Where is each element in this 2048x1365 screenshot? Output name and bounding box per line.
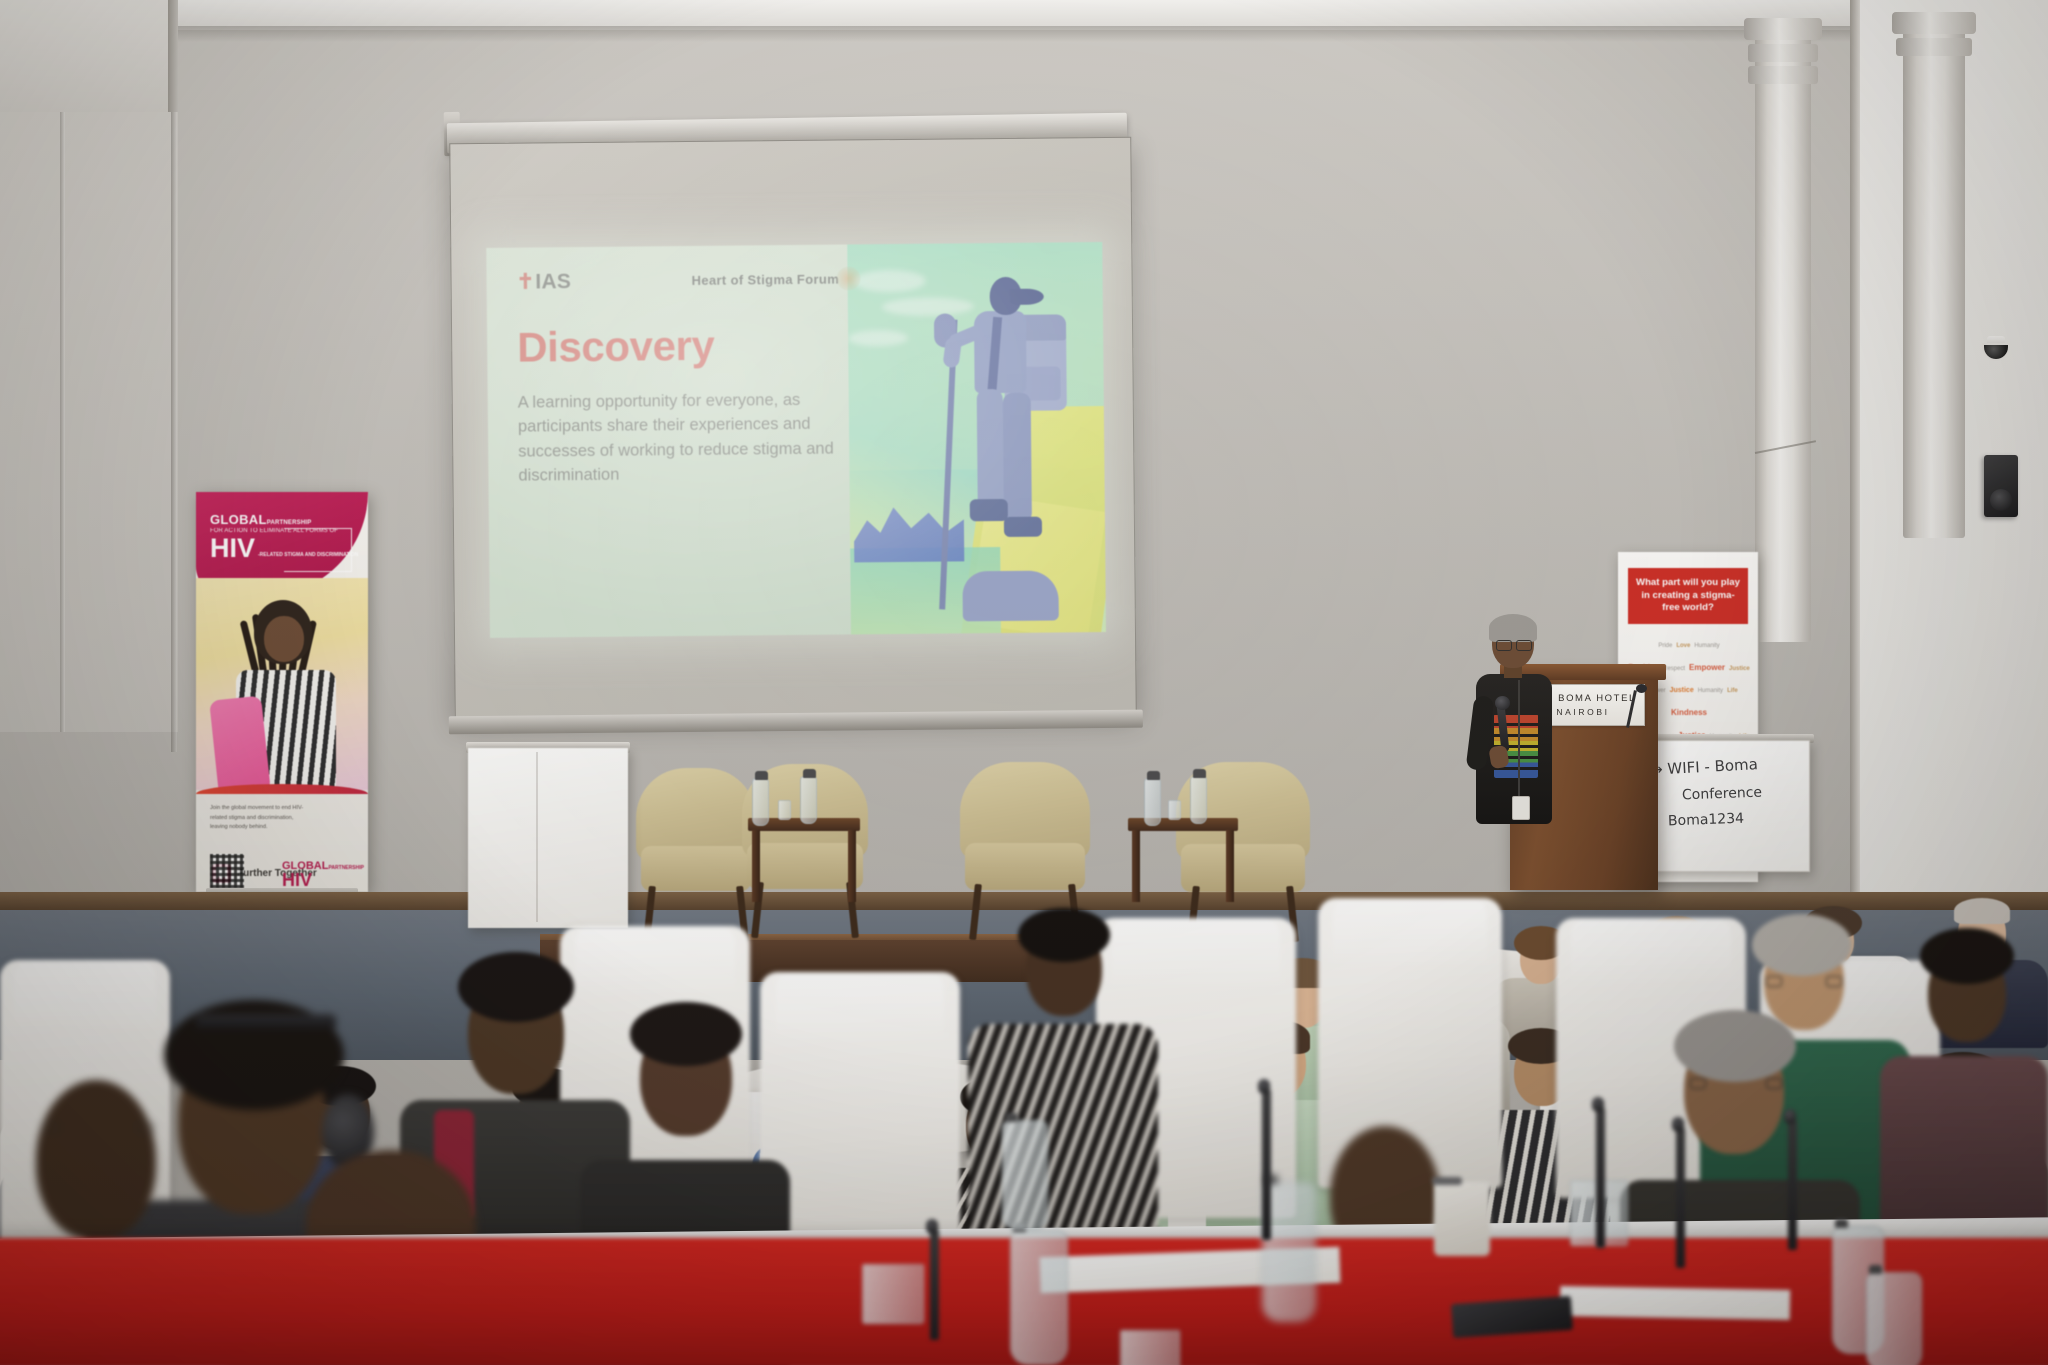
water-carafe <box>1866 1272 1922 1365</box>
eyeglasses-icon <box>44 1122 154 1140</box>
banner-headline: What part will you play in creating a st… <box>1628 577 1748 615</box>
slide-title: Discovery <box>517 322 715 372</box>
projection-screen: ✝IAS Heart of Stigma Forum Discovery A l… <box>449 137 1136 719</box>
wall-groove <box>171 112 177 752</box>
column <box>1903 18 1965 538</box>
water-carafe <box>1010 1230 1068 1365</box>
drinking-glass <box>1120 1330 1180 1365</box>
ias-logo: ✝IAS <box>516 269 571 295</box>
ias-logo-text: IAS <box>535 270 571 293</box>
eyeglasses-icon <box>1766 976 1842 985</box>
column <box>1755 22 1811 642</box>
slide-body-text: A learning opportunity for everyone, as … <box>518 387 849 487</box>
slide-artwork <box>847 242 1106 634</box>
microphone-stand <box>1262 1090 1271 1240</box>
projected-slide: ✝IAS Heart of Stigma Forum Discovery A l… <box>486 242 1106 638</box>
water-carafe <box>1002 1120 1048 1230</box>
banner-photo <box>196 578 368 790</box>
ribbon-icon: ✝ <box>516 270 534 293</box>
left-soffit <box>0 0 175 118</box>
forum-label: Heart of Stigma Forum <box>692 272 840 288</box>
conference-room-photo: ✝IAS Heart of Stigma Forum Discovery A l… <box>0 0 2048 1365</box>
ceiling-shadow <box>0 26 2048 42</box>
attendee <box>968 914 1158 1244</box>
left-soffit-edge <box>168 0 178 120</box>
hotel-city: NAIROBI <box>1556 707 1609 717</box>
microphone-stand <box>1788 1120 1797 1250</box>
wall-speaker-icon <box>1984 455 2018 517</box>
wall-groove <box>60 112 65 732</box>
podium-microphone-head <box>1636 684 1647 693</box>
dome-cctv-camera-icon <box>1983 336 2009 366</box>
notepad <box>1560 1286 1790 1320</box>
microphone-stand <box>1676 1128 1685 1268</box>
microphone-stand <box>930 1230 939 1340</box>
hiker-illustration <box>932 270 1085 621</box>
banner-headline-block: What part will you play in creating a st… <box>1628 568 1748 624</box>
attendee <box>1880 936 2048 1266</box>
coffee-cup <box>1434 1182 1490 1256</box>
microphone-stand <box>1596 1108 1605 1248</box>
forum-mark-icon <box>836 266 860 290</box>
eyeglasses-icon <box>1690 1078 1782 1096</box>
eyeglasses-icon <box>1496 640 1532 649</box>
left-wall-panel <box>0 112 178 732</box>
drinking-glass <box>862 1264 924 1324</box>
